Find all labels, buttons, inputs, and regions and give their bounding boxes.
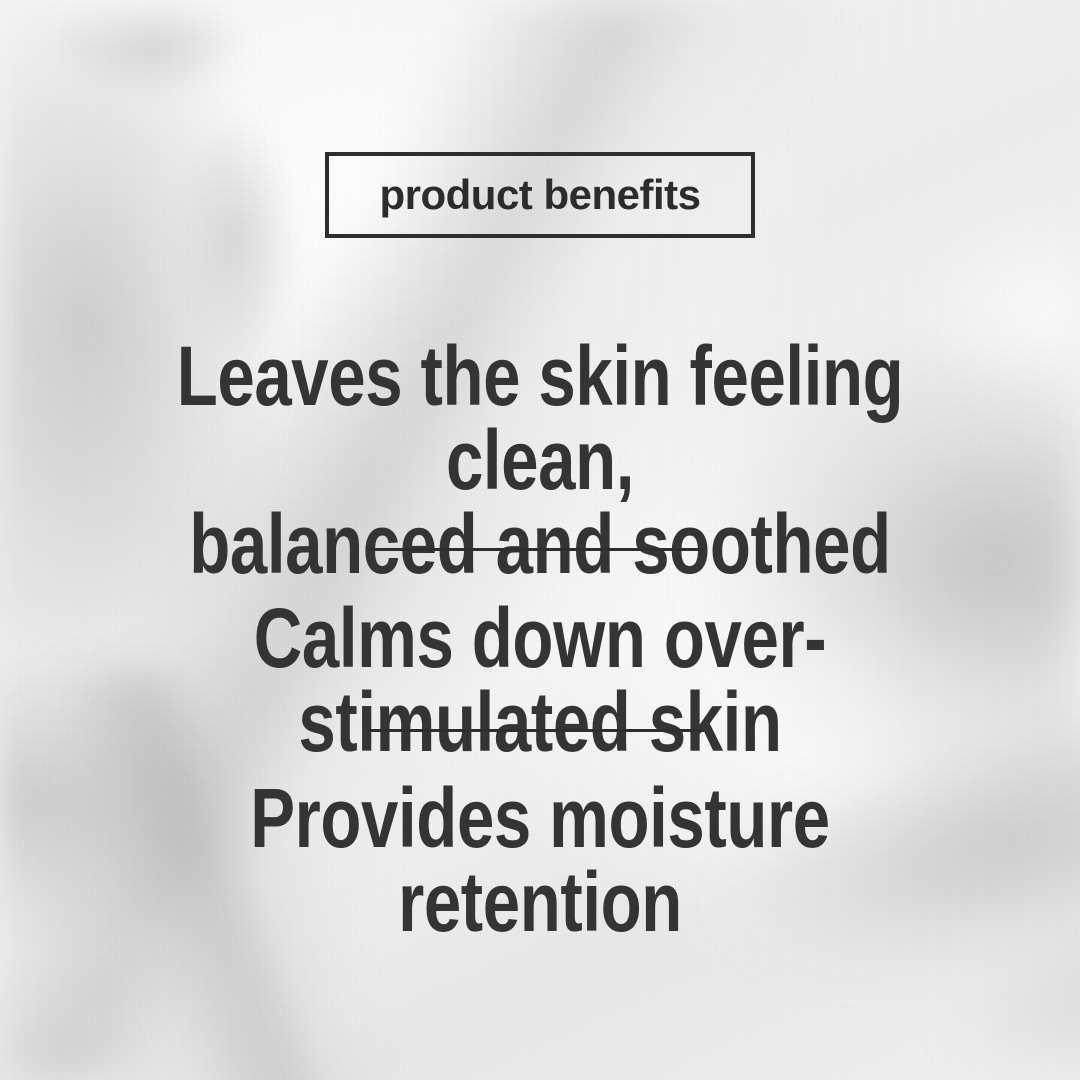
section-label-box: product benefits bbox=[325, 152, 755, 238]
benefit-divider-1 bbox=[368, 548, 704, 551]
content-layer: product benefits Leaves the skin feeling… bbox=[0, 0, 1080, 1080]
section-label-text: product benefits bbox=[379, 174, 700, 216]
benefit-1-line-2: balanced and soothed bbox=[108, 502, 972, 586]
benefit-3-line-1: Provides moisture retention bbox=[108, 776, 972, 944]
benefit-item-3: Provides moisture retention bbox=[108, 776, 972, 944]
benefit-1-line-1: Leaves the skin feeling clean, bbox=[108, 334, 972, 502]
product-benefits-graphic: product benefits Leaves the skin feeling… bbox=[0, 0, 1080, 1080]
benefit-2-line-1: Calms down over-stimulated skin bbox=[108, 596, 972, 764]
benefit-divider-2 bbox=[368, 729, 704, 732]
benefit-item-2: Calms down over-stimulated skin bbox=[108, 596, 972, 764]
